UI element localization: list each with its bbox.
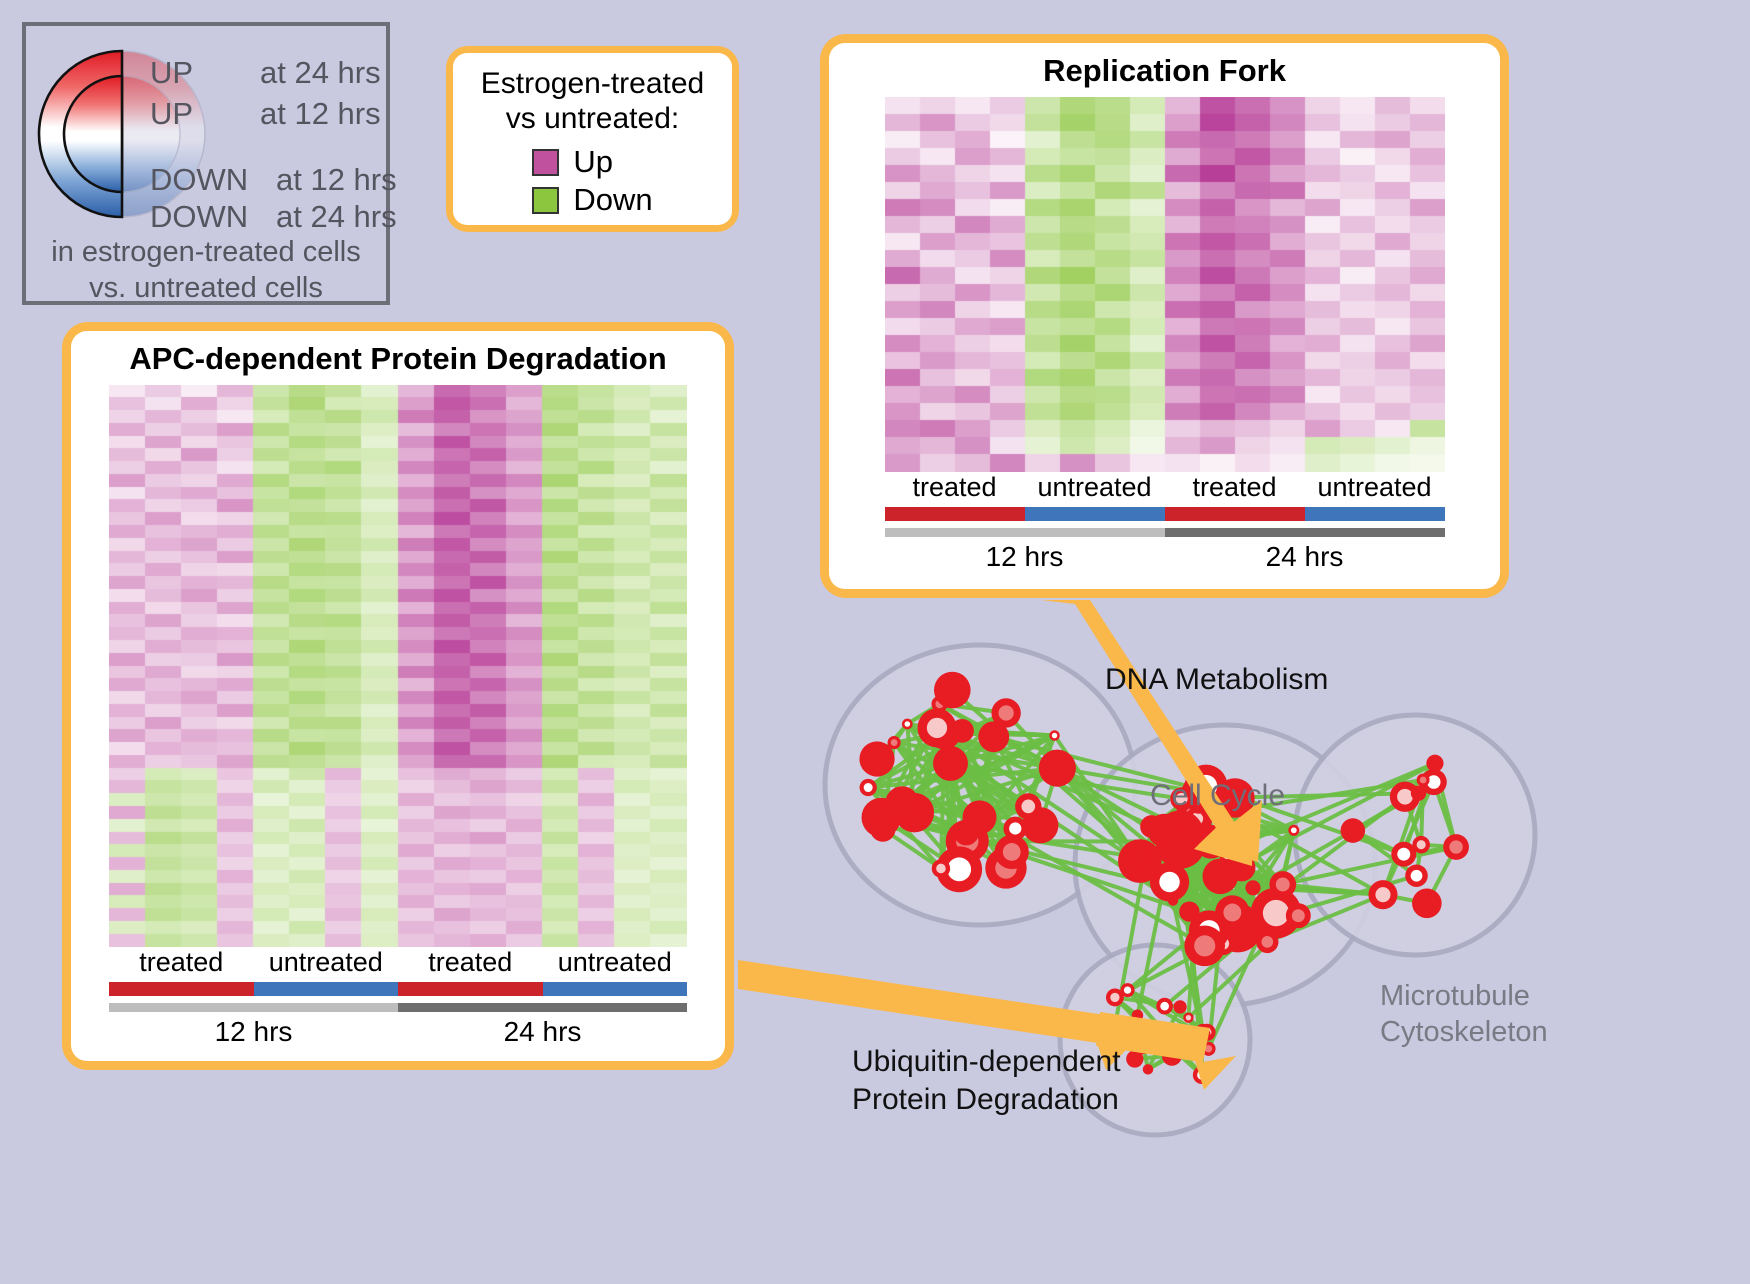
treatment-bar-segment-0 [109, 982, 254, 996]
heatmap-replication-fork [885, 97, 1445, 472]
key-word-down-24: DOWN [150, 199, 248, 235]
estrogen-legend-items: Up Down [532, 142, 652, 218]
timepoint-label-row: 12 hrs24 hrs [109, 1016, 687, 1048]
legend-label-down: Down [573, 182, 652, 218]
timepoint-bar-segment-1 [398, 1003, 687, 1012]
panel-apc-degradation: APC-dependent Protein Degradation treate… [62, 322, 734, 1070]
legend-item-down: Down [532, 182, 652, 218]
treatment-color-bar [109, 982, 687, 996]
treatment-bar-segment-0 [885, 507, 1025, 521]
timepoint-color-bar [109, 1003, 687, 1012]
circle-key-footer-line2: vs. untreated cells [26, 270, 386, 306]
group-label-untreated-3: untreated [1305, 472, 1445, 503]
group-label-treated-0: treated [885, 472, 1025, 503]
key-time-down-24: at 24 hrs [276, 199, 397, 235]
timepoint-color-bar [885, 528, 1445, 537]
network-label-microtubule-line2: Cytoskeleton [1380, 1014, 1548, 1050]
network-label-ubiquitin-line1: Ubiquitin-dependent [852, 1043, 1121, 1081]
axis-apc-degradation: treateduntreatedtreateduntreated12 hrs24… [109, 947, 687, 1048]
group-label-treated-2: treated [1165, 472, 1305, 503]
legend-item-up: Up [532, 144, 652, 180]
timepoint-bar-segment-0 [885, 528, 1165, 537]
timepoint-label-row: 12 hrs24 hrs [885, 541, 1445, 573]
group-label-untreated-3: untreated [543, 947, 688, 978]
estrogen-legend: Estrogen-treated vs untreated: Up Down [446, 46, 739, 232]
timepoint-label-0: 12 hrs [109, 1016, 398, 1048]
treatment-bar-segment-1 [1025, 507, 1165, 521]
timepoint-label-0: 12 hrs [885, 541, 1165, 573]
network-label-ubiquitin-line2: Protein Degradation [852, 1081, 1121, 1119]
timepoint-bar-segment-0 [109, 1003, 398, 1012]
group-label-row: treateduntreatedtreateduntreated [109, 947, 687, 978]
timepoint-label-1: 24 hrs [398, 1016, 687, 1048]
treatment-bar-segment-3 [543, 982, 688, 996]
estrogen-legend-title: Estrogen-treated vs untreated: [481, 67, 704, 136]
key-word-down-12: DOWN [150, 162, 248, 198]
network-label-cell-cycle: Cell Cycle [1150, 779, 1285, 813]
legend-swatch-down-icon [532, 187, 559, 214]
network-label-ubiquitin-degradation: Ubiquitin-dependent Protein Degradation [852, 1043, 1121, 1118]
panel-title-apc-degradation: APC-dependent Protein Degradation [129, 341, 666, 377]
circle-key-legend: UP at 24 hrs UP at 12 hrs DOWN at 12 hrs… [22, 22, 390, 305]
network-label-dna-metabolism: DNA Metabolism [1105, 663, 1328, 697]
group-label-untreated-1: untreated [1025, 472, 1165, 503]
legend-label-up: Up [573, 144, 613, 180]
treatment-bar-segment-2 [1165, 507, 1305, 521]
network-label-microtubule-line1: Microtubule [1380, 978, 1548, 1014]
network-graph [795, 620, 1750, 1279]
timepoint-label-1: 24 hrs [1165, 541, 1445, 573]
key-time-down-12: at 12 hrs [276, 162, 397, 198]
treatment-bar-segment-3 [1305, 507, 1445, 521]
figure-canvas: UP at 24 hrs UP at 12 hrs DOWN at 12 hrs… [0, 0, 1750, 1279]
network-label-microtubule-cytoskeleton: Microtubule Cytoskeleton [1380, 978, 1548, 1051]
key-word-up-12: UP [150, 96, 193, 132]
axis-replication-fork: treateduntreatedtreateduntreated12 hrs24… [885, 472, 1445, 573]
group-label-row: treateduntreatedtreateduntreated [885, 472, 1445, 503]
treatment-bar-segment-2 [398, 982, 543, 996]
key-word-up-24: UP [150, 55, 193, 91]
panel-replication-fork: Replication Fork treateduntreatedtreated… [820, 34, 1509, 598]
legend-swatch-up-icon [532, 149, 559, 176]
circle-key-footer-line1: in estrogen-treated cells [26, 234, 386, 270]
group-label-untreated-1: untreated [254, 947, 399, 978]
timepoint-bar-segment-1 [1165, 528, 1445, 537]
estrogen-legend-title-line1: Estrogen-treated [481, 67, 704, 102]
estrogen-legend-title-line2: vs untreated: [481, 102, 704, 137]
key-time-up-12: at 12 hrs [260, 96, 381, 132]
key-time-up-24: at 24 hrs [260, 55, 381, 91]
group-label-treated-2: treated [398, 947, 543, 978]
group-label-treated-0: treated [109, 947, 254, 978]
panel-title-replication-fork: Replication Fork [1043, 53, 1286, 89]
treatment-bar-segment-1 [254, 982, 399, 996]
heatmap-apc-degradation [109, 385, 687, 947]
circle-key-footer: in estrogen-treated cells vs. untreated … [26, 234, 386, 307]
treatment-color-bar [885, 507, 1445, 521]
